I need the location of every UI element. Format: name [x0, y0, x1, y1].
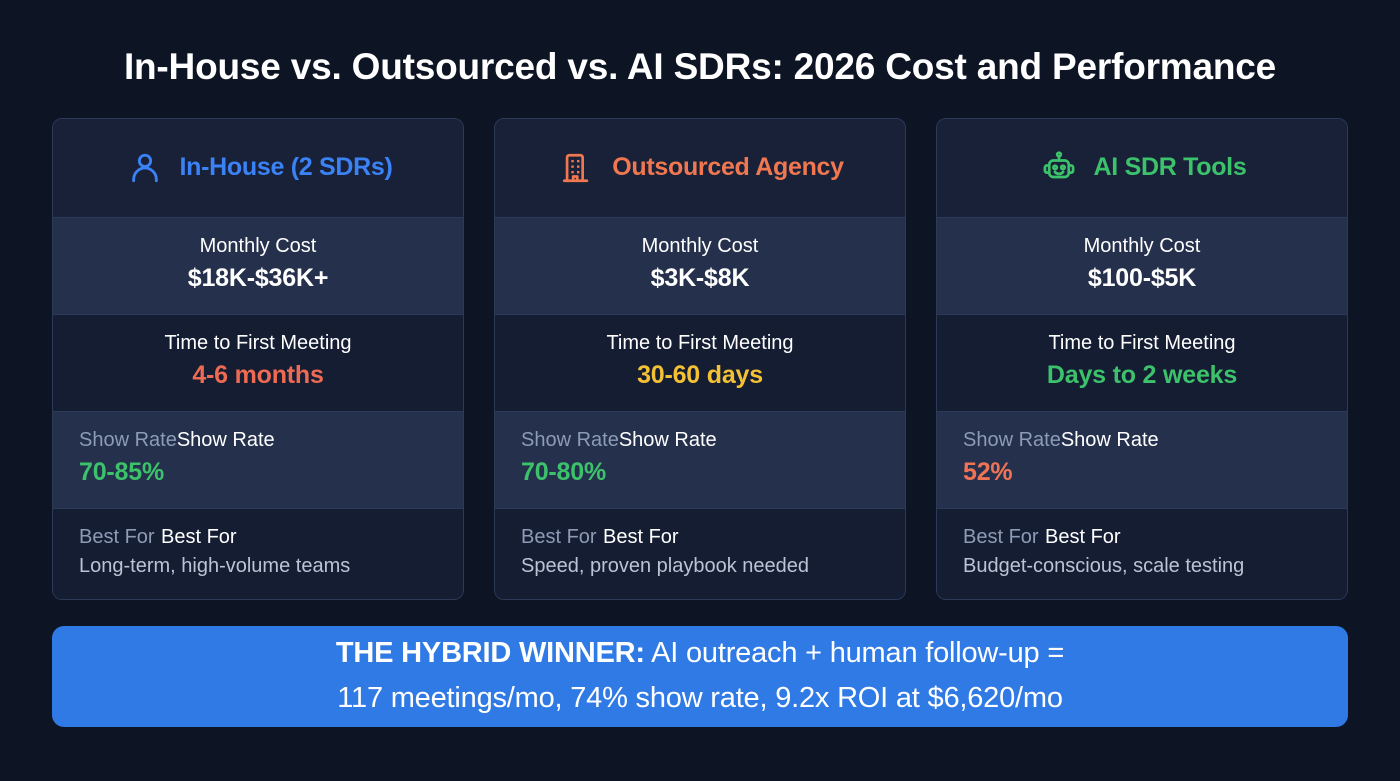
row-value: 70-85%: [79, 455, 443, 490]
row-label: Best ForBest For: [521, 523, 885, 552]
card-title: In-House (2 SDRs): [180, 153, 393, 182]
row-label-muted: Show Rate: [521, 429, 619, 451]
banner-rest-label: AI outreach + human follow-up =: [645, 637, 1064, 669]
row-label-muted: Show Rate: [963, 429, 1061, 451]
row-show-rate: Show RateShow Rate 70-80%: [495, 412, 905, 509]
row-label: Monthly Cost: [515, 232, 885, 261]
row-label-bright: Show Rate: [177, 429, 275, 451]
row-description: Long-term, high-volume teams: [79, 552, 443, 581]
row-label: Show RateShow Rate: [521, 426, 885, 455]
row-label-muted: Show Rate: [79, 429, 177, 451]
row-label-bright: Best For: [1045, 526, 1121, 548]
row-label-muted: Best For: [521, 523, 603, 552]
row-monthly-cost: Monthly Cost $3K-$8K: [495, 218, 905, 315]
banner-strong-label: THE HYBRID WINNER:: [336, 637, 645, 669]
row-description: Speed, proven playbook needed: [521, 552, 885, 581]
row-label-bright: Best For: [161, 526, 237, 548]
row-label: Show RateShow Rate: [79, 426, 443, 455]
row-time-to-first-meeting: Time to First Meeting 4-6 months: [53, 315, 463, 412]
card-title: Outsourced Agency: [612, 153, 844, 182]
hybrid-winner-banner: THE HYBRID WINNER: AI outreach + human f…: [52, 626, 1348, 727]
row-value: 70-80%: [521, 455, 885, 490]
row-label-muted: Best For: [79, 523, 161, 552]
row-label-muted: Best For: [963, 523, 1045, 552]
card-in-house: In-House (2 SDRs) Monthly Cost $18K-$36K…: [52, 118, 464, 600]
row-best-for: Best ForBest For Budget-conscious, scale…: [937, 509, 1347, 599]
row-value: $18K-$36K+: [73, 261, 443, 296]
banner-line-2: 117 meetings/mo, 74% show rate, 9.2x ROI…: [337, 676, 1063, 721]
comparison-cards: In-House (2 SDRs) Monthly Cost $18K-$36K…: [0, 118, 1400, 600]
row-label-bright: Best For: [603, 526, 679, 548]
row-label: Time to First Meeting: [515, 329, 885, 358]
row-description: Budget-conscious, scale testing: [963, 552, 1327, 581]
row-show-rate: Show RateShow Rate 52%: [937, 412, 1347, 509]
row-monthly-cost: Monthly Cost $18K-$36K+: [53, 218, 463, 315]
row-value: 30-60 days: [515, 358, 885, 393]
card-ai-sdr-tools: AI SDR Tools Monthly Cost $100-$5K Time …: [936, 118, 1348, 600]
infographic-page: In-House vs. Outsourced vs. AI SDRs: 202…: [0, 0, 1400, 781]
row-show-rate: Show RateShow Rate 70-85%: [53, 412, 463, 509]
row-best-for: Best ForBest For Long-term, high-volume …: [53, 509, 463, 599]
row-label: Time to First Meeting: [73, 329, 443, 358]
row-time-to-first-meeting: Time to First Meeting Days to 2 weeks: [937, 315, 1347, 412]
page-title: In-House vs. Outsourced vs. AI SDRs: 202…: [0, 0, 1400, 88]
card-title: AI SDR Tools: [1094, 153, 1247, 182]
row-time-to-first-meeting: Time to First Meeting 30-60 days: [495, 315, 905, 412]
row-label-bright: Show Rate: [619, 429, 717, 451]
row-label: Best ForBest For: [79, 523, 443, 552]
card-header: Outsourced Agency: [495, 119, 905, 218]
row-best-for: Best ForBest For Speed, proven playbook …: [495, 509, 905, 599]
banner-line-1: THE HYBRID WINNER: AI outreach + human f…: [336, 631, 1064, 676]
robot-icon: [1038, 147, 1080, 189]
row-label: Monthly Cost: [957, 232, 1327, 261]
row-label-bright: Show Rate: [1061, 429, 1159, 451]
row-value: 4-6 months: [73, 358, 443, 393]
row-value: $100-$5K: [957, 261, 1327, 296]
row-label: Time to First Meeting: [957, 329, 1327, 358]
card-header: In-House (2 SDRs): [53, 119, 463, 218]
row-label: Monthly Cost: [73, 232, 443, 261]
row-monthly-cost: Monthly Cost $100-$5K: [937, 218, 1347, 315]
card-header: AI SDR Tools: [937, 119, 1347, 218]
row-value: Days to 2 weeks: [957, 358, 1327, 393]
card-outsourced-agency: Outsourced Agency Monthly Cost $3K-$8K T…: [494, 118, 906, 600]
building-icon: [556, 147, 598, 189]
row-label: Show RateShow Rate: [963, 426, 1327, 455]
person-icon: [124, 147, 166, 189]
row-value: 52%: [963, 455, 1327, 490]
row-value: $3K-$8K: [515, 261, 885, 296]
row-label: Best ForBest For: [963, 523, 1327, 552]
